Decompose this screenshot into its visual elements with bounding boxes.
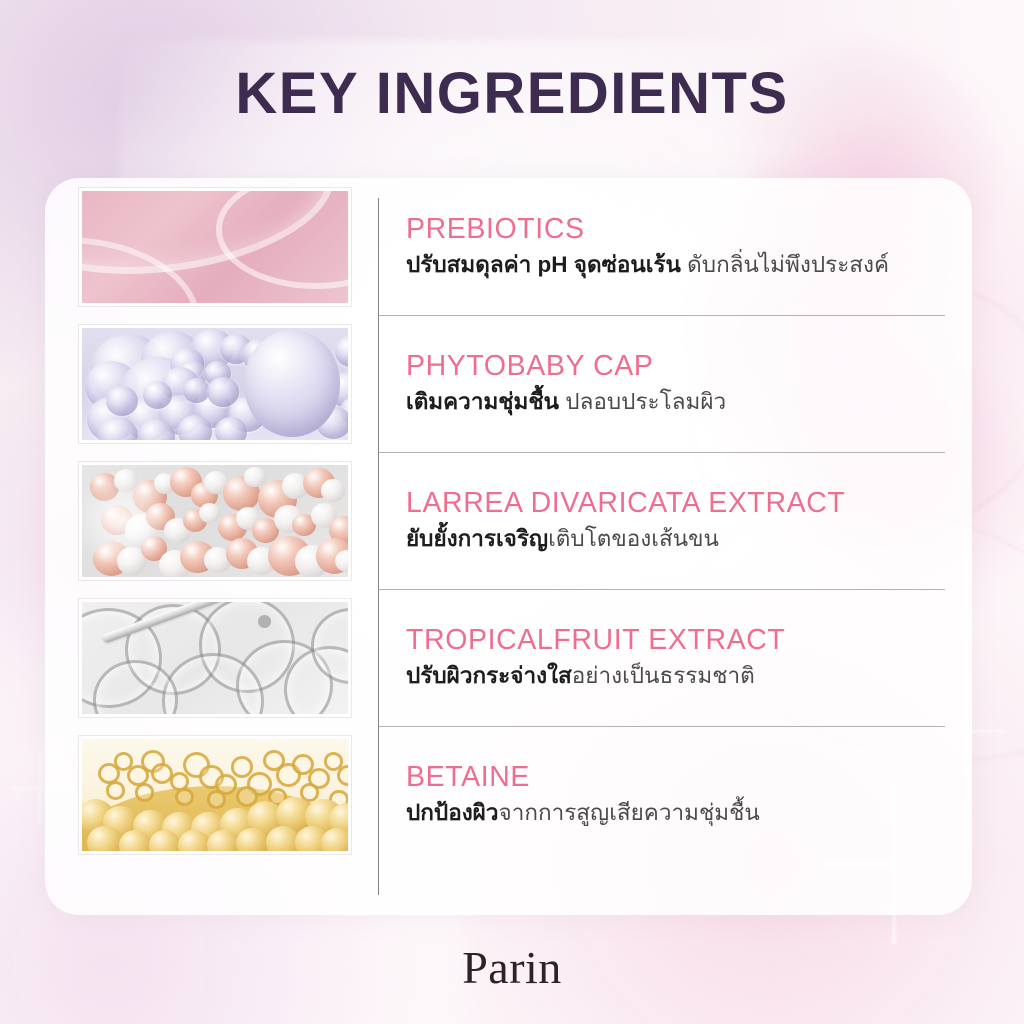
texture-shape — [106, 781, 125, 800]
ingredient-text: BETAINE ปกป้องผิวจากการสูญเสียความชุ่มชื… — [375, 726, 972, 863]
description-regular: จากการสูญเสียความชุ่มชื้น — [499, 800, 760, 825]
ingredient-row: BETAINE ปกป้องผิวจากการสูญเสียความชุ่มชื… — [45, 726, 972, 863]
ingredient-name: PHYTOBABY CAP — [406, 350, 944, 383]
description-regular: อย่างเป็นธรรมชาติ — [572, 663, 755, 688]
golden-molecules-image — [79, 736, 351, 854]
texture-shape — [244, 467, 265, 487]
description-regular: ดับกลิ่นไม่พึงประสงค์ — [681, 252, 889, 277]
texture-shape — [207, 830, 239, 853]
texture-shape — [207, 377, 239, 407]
texture-shape — [119, 830, 151, 853]
ingredient-list: PREBIOTICS ปรับสมดุลค่า pH จุดซ่อนเร้น ด… — [45, 178, 972, 915]
description-bold: ยับยั้งการเจริญ — [406, 526, 548, 551]
ingredient-row: PHYTOBABY CAP เติมความชุ่มชื้น ปลอบประโล… — [45, 315, 972, 452]
texture-shape — [321, 479, 345, 502]
ingredient-description: ยับยั้งการเจริญเติบโตของเส้นขน — [406, 524, 944, 553]
description-bold: ปรับผิวกระจ่างใส — [406, 663, 572, 688]
texture-shape — [207, 790, 226, 809]
ingredient-description: ปกป้องผิวจากการสูญเสียความชุ่มชื้น — [406, 798, 944, 827]
ingredient-description: ปรับผิวกระจ่างใสอย่างเป็นธรรมชาติ — [406, 661, 944, 690]
texture-shape — [183, 378, 210, 403]
description-regular: ปลอบประโลมผิว — [559, 389, 726, 414]
texture-shape — [178, 830, 210, 853]
ingredient-row: PREBIOTICS ปรับสมดุลค่า pH จุดซ่อนเร้น ด… — [45, 178, 972, 315]
ingredient-row: LARREA DIVARICATA EXTRACT ยับยั้งการเจริ… — [45, 452, 972, 589]
thumbnail-cell — [45, 178, 375, 315]
poster-canvas: KEY INGREDIENTS PREBIOTICS ปรับสมดุลค่า … — [0, 0, 1024, 1024]
texture-shape — [178, 415, 213, 443]
lavender-bubbles-image — [79, 325, 351, 443]
ingredient-name: TROPICALFRUIT EXTRACT — [406, 624, 944, 657]
ingredient-text: TROPICALFRUIT EXTRACT ปรับผิวกระจ่างใสอย… — [375, 589, 972, 726]
ingredient-name: PREBIOTICS — [406, 213, 944, 246]
description-bold: เติมความชุ่มชื้น — [406, 389, 559, 414]
ingredient-description: ปรับสมดุลค่า pH จุดซ่อนเร้น ดับกลิ่นไม่พ… — [406, 250, 944, 279]
ingredient-text: PREBIOTICS ปรับสมดุลค่า pH จุดซ่อนเร้น ด… — [375, 178, 972, 315]
thumbnail-cell — [45, 726, 375, 863]
texture-shape — [231, 756, 253, 777]
ingredient-text: PHYTOBABY CAP เติมความชุ่มชื้น ปลอบประโล… — [375, 315, 972, 452]
petri-dish-dropper-image — [79, 599, 351, 717]
description-regular: เติบโตของเส้นขน — [548, 526, 719, 551]
ingredient-description: เติมความชุ่มชื้น ปลอบประโลมผิว — [406, 387, 944, 416]
texture-shape — [321, 828, 351, 853]
thumbnail-cell — [45, 315, 375, 452]
ingredient-text: LARREA DIVARICATA EXTRACT ยับยั้งการเจริ… — [375, 452, 972, 589]
texture-shape — [337, 765, 351, 786]
ingredient-name: BETAINE — [406, 761, 944, 794]
texture-shape — [244, 330, 340, 438]
texture-shape — [87, 826, 122, 854]
page-title: KEY INGREDIENTS — [0, 60, 1024, 127]
texture-shape — [335, 336, 351, 366]
description-bold: ปกป้องผิว — [406, 800, 499, 825]
description-bold: ปรับสมดุลค่า pH จุดซ่อนเร้น — [406, 252, 681, 277]
texture-shape — [215, 417, 247, 442]
texture-shape — [236, 828, 268, 853]
pearl-spheres-image — [79, 462, 351, 580]
ingredient-name: LARREA DIVARICATA EXTRACT — [406, 487, 944, 520]
thumbnail-cell — [45, 589, 375, 726]
texture-shape — [149, 830, 181, 853]
texture-shape — [106, 386, 138, 416]
ingredients-card: PREBIOTICS ปรับสมดุลค่า pH จุดซ่อนเร้น ด… — [45, 178, 972, 915]
texture-shape — [199, 503, 220, 523]
thumbnail-cell — [45, 452, 375, 589]
pink-gel-bubbles-image — [79, 188, 351, 306]
brand-logo: Parin — [0, 941, 1024, 994]
ingredient-row: TROPICALFRUIT EXTRACT ปรับผิวกระจ่างใสอย… — [45, 589, 972, 726]
